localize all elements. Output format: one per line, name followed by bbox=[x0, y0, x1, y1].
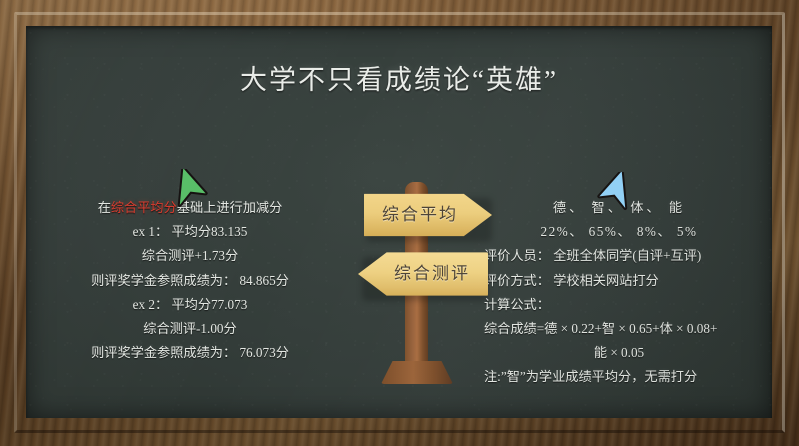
left-line-5: ex 2： 平均分77.073 bbox=[56, 293, 324, 317]
chalkboard-wooden-frame: 大学不只看成绩论“英雄” 在综合平均分基础上进行加减分 ex 1： 平均分83.… bbox=[0, 0, 799, 446]
left-line-4: 则评奖学金参照成绩为： 84.865分 bbox=[56, 269, 324, 293]
signpost-base bbox=[381, 361, 453, 384]
left-line-1-accent: 综合平均分 bbox=[111, 200, 177, 215]
green-cursor-arrow-icon bbox=[172, 169, 212, 216]
left-line-6: 综合测评-1.00分 bbox=[56, 317, 324, 341]
left-line-3: 综合测评+1.73分 bbox=[56, 244, 324, 268]
slide-title: 大学不只看成绩论“英雄” bbox=[26, 58, 772, 97]
left-text-column: 在综合平均分基础上进行加减分 ex 1： 平均分83.135 综合测评+1.73… bbox=[56, 196, 324, 365]
blue-cursor-arrow-icon bbox=[591, 172, 633, 219]
chalkboard-surface: 大学不只看成绩论“英雄” 在综合平均分基础上进行加减分 ex 1： 平均分83.… bbox=[26, 26, 772, 418]
left-line-1-prefix: 在 bbox=[98, 200, 111, 215]
signpost-graphic: 综合平均 综合测评 bbox=[356, 146, 526, 411]
left-line-7: 则评奖学金参照成绩为： 76.073分 bbox=[56, 341, 324, 365]
left-line-2: ex 1： 平均分83.135 bbox=[56, 220, 324, 244]
